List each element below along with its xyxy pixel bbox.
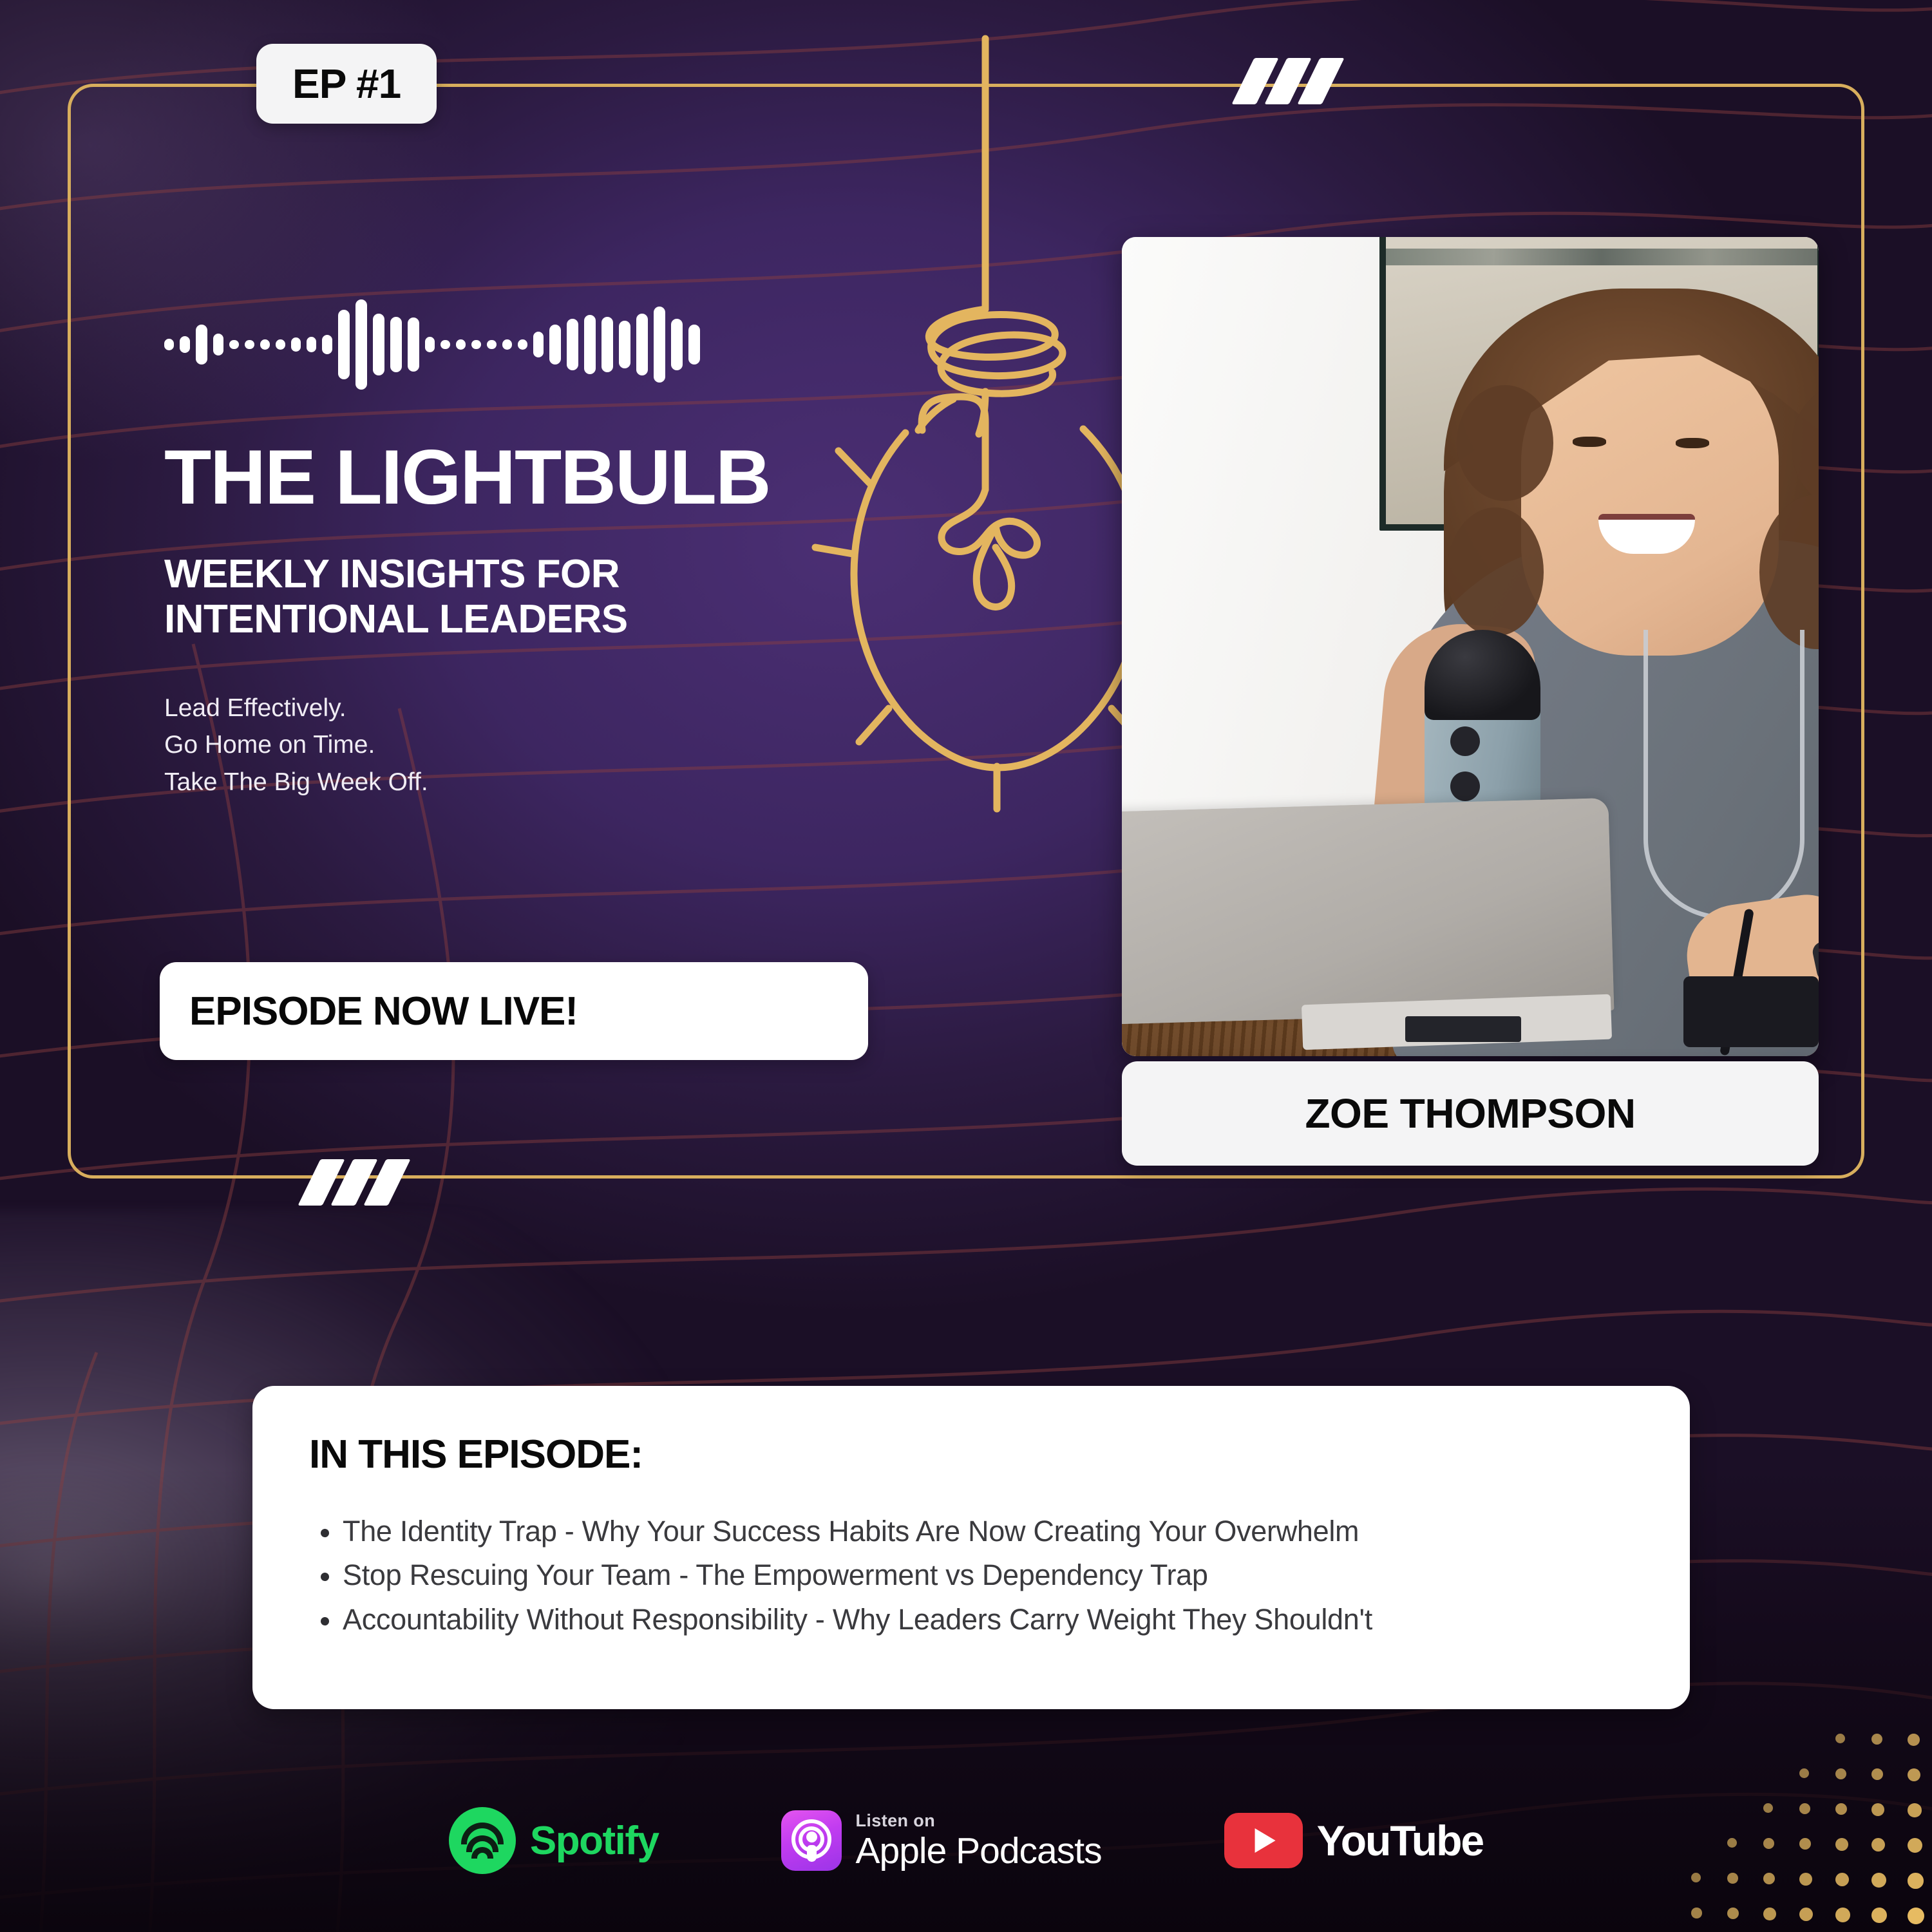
gold-dot bbox=[1727, 1908, 1739, 1919]
waveform-bar bbox=[636, 314, 648, 375]
platform-links: Spotify Listen on Apple Podcasts YouTube bbox=[0, 1795, 1932, 1886]
waveform-bar bbox=[390, 317, 402, 372]
tagline-block: Lead Effectively. Go Home on Time. Take … bbox=[164, 690, 924, 800]
show-info-column: THE LIGHTBULB WEEKLY INSIGHTS FOR INTENT… bbox=[164, 293, 924, 800]
waveform-bar bbox=[373, 314, 384, 375]
waveform-bar bbox=[260, 339, 270, 350]
gold-dot bbox=[1835, 1734, 1845, 1743]
waveform-bar bbox=[502, 339, 512, 350]
youtube-icon bbox=[1224, 1813, 1303, 1868]
waveform-bar bbox=[338, 310, 350, 379]
waveform-bar bbox=[619, 321, 630, 368]
waveform-bar bbox=[276, 339, 285, 350]
apple-podcasts-text: Listen on Apple Podcasts bbox=[856, 1812, 1102, 1870]
gold-dot bbox=[1908, 1734, 1920, 1746]
waveform-bar bbox=[440, 340, 450, 349]
list-item: Stop Rescuing Your Team - The Empowermen… bbox=[343, 1553, 1633, 1597]
episode-now-live-button[interactable]: EPISODE NOW LIVE! bbox=[160, 962, 868, 1060]
spotify-icon bbox=[449, 1807, 516, 1874]
gold-dot bbox=[1908, 1768, 1920, 1781]
waveform-bar bbox=[196, 325, 207, 365]
gold-dot bbox=[1835, 1768, 1846, 1779]
gold-dot bbox=[1835, 1908, 1850, 1922]
show-subtitle: WEEKLY INSIGHTS FOR INTENTIONAL LEADERS bbox=[164, 552, 924, 642]
gold-dot bbox=[1871, 1734, 1882, 1745]
host-name-label: ZOE THOMPSON bbox=[1305, 1090, 1635, 1137]
gold-dot bbox=[1908, 1908, 1924, 1924]
waveform-bar bbox=[688, 325, 700, 365]
show-subtitle-line-1: WEEKLY INSIGHTS FOR bbox=[164, 552, 924, 597]
photo-laptop bbox=[1122, 798, 1614, 1025]
slash-marks-icon-bottom-left bbox=[309, 1159, 399, 1206]
waveform-bar bbox=[671, 319, 683, 370]
photo-laptop-keyboard bbox=[1405, 1016, 1521, 1042]
waveform-bar bbox=[180, 336, 190, 353]
waveform-bar bbox=[229, 340, 239, 349]
gold-dot bbox=[1799, 1908, 1813, 1921]
waveform-bar bbox=[487, 340, 497, 349]
gold-dot bbox=[1871, 1768, 1883, 1780]
slash-marks-icon-top-right bbox=[1243, 58, 1333, 104]
waveform-bar bbox=[584, 315, 596, 374]
host-photo bbox=[1122, 237, 1819, 1056]
waveform-bar bbox=[549, 325, 561, 365]
tagline-line-3: Take The Big Week Off. bbox=[164, 764, 924, 800]
list-item: Accountability Without Responsibility - … bbox=[343, 1598, 1633, 1642]
show-subtitle-line-2: INTENTIONAL LEADERS bbox=[164, 597, 924, 642]
photo-curl bbox=[1457, 385, 1553, 501]
photo-device bbox=[1683, 976, 1819, 1047]
photo-eye-right bbox=[1676, 438, 1709, 448]
list-item: The Identity Trap - Why Your Success Hab… bbox=[343, 1510, 1633, 1553]
episode-number-label: EP #1 bbox=[292, 63, 401, 104]
gold-dot bbox=[1763, 1908, 1776, 1920]
episode-number-badge: EP #1 bbox=[256, 44, 437, 124]
waveform-bar bbox=[322, 335, 332, 354]
waveform-bar bbox=[567, 319, 578, 370]
gold-dot bbox=[1799, 1768, 1809, 1778]
episode-contents-heading: IN THIS EPISODE: bbox=[309, 1435, 1633, 1475]
waveform-bar bbox=[307, 337, 316, 352]
waveform-bar bbox=[164, 339, 174, 350]
spotify-link[interactable]: Spotify bbox=[449, 1807, 659, 1874]
youtube-label: YouTube bbox=[1317, 1816, 1484, 1865]
audio-waveform-icon bbox=[164, 293, 924, 396]
waveform-bar bbox=[213, 334, 223, 355]
tagline-line-2: Go Home on Time. bbox=[164, 726, 924, 763]
waveform-bar bbox=[408, 317, 419, 372]
waveform-bar bbox=[425, 337, 435, 352]
gold-dot bbox=[1871, 1908, 1887, 1923]
tagline-line-1: Lead Effectively. bbox=[164, 690, 924, 726]
episode-now-live-label: EPISODE NOW LIVE! bbox=[189, 989, 578, 1034]
spotify-label: Spotify bbox=[530, 1818, 659, 1864]
page-title: THE LIGHTBULB bbox=[164, 439, 924, 516]
waveform-bar bbox=[355, 299, 367, 390]
youtube-link[interactable]: YouTube bbox=[1224, 1813, 1484, 1868]
episode-bullet-list: The Identity Trap - Why Your Success Hab… bbox=[309, 1510, 1633, 1642]
gold-dot bbox=[1691, 1908, 1702, 1918]
episode-contents-card: IN THIS EPISODE: The Identity Trap - Why… bbox=[252, 1386, 1690, 1709]
waveform-bar bbox=[533, 332, 544, 357]
waveform-bar bbox=[471, 340, 481, 349]
photo-curl bbox=[1447, 507, 1544, 636]
apple-podcasts-icon bbox=[781, 1810, 842, 1871]
apple-podcasts-label: Apple Podcasts bbox=[856, 1833, 1102, 1870]
waveform-bar bbox=[601, 317, 613, 372]
apple-podcasts-prefix: Listen on bbox=[856, 1812, 1102, 1830]
photo-mic-knob bbox=[1450, 772, 1480, 801]
photo-necklace bbox=[1643, 630, 1804, 920]
podcast-promo-graphic: EP #1 THE LI bbox=[0, 0, 1932, 1932]
waveform-bar bbox=[245, 340, 254, 349]
waveform-bar bbox=[654, 307, 665, 383]
host-nameplate: ZOE THOMPSON bbox=[1122, 1061, 1819, 1166]
waveform-bar bbox=[291, 337, 301, 352]
waveform-bar bbox=[456, 339, 466, 350]
photo-eye-left bbox=[1573, 437, 1606, 447]
apple-podcasts-link[interactable]: Listen on Apple Podcasts bbox=[781, 1810, 1102, 1871]
photo-mic-knob bbox=[1450, 726, 1480, 756]
waveform-bar bbox=[518, 339, 527, 350]
